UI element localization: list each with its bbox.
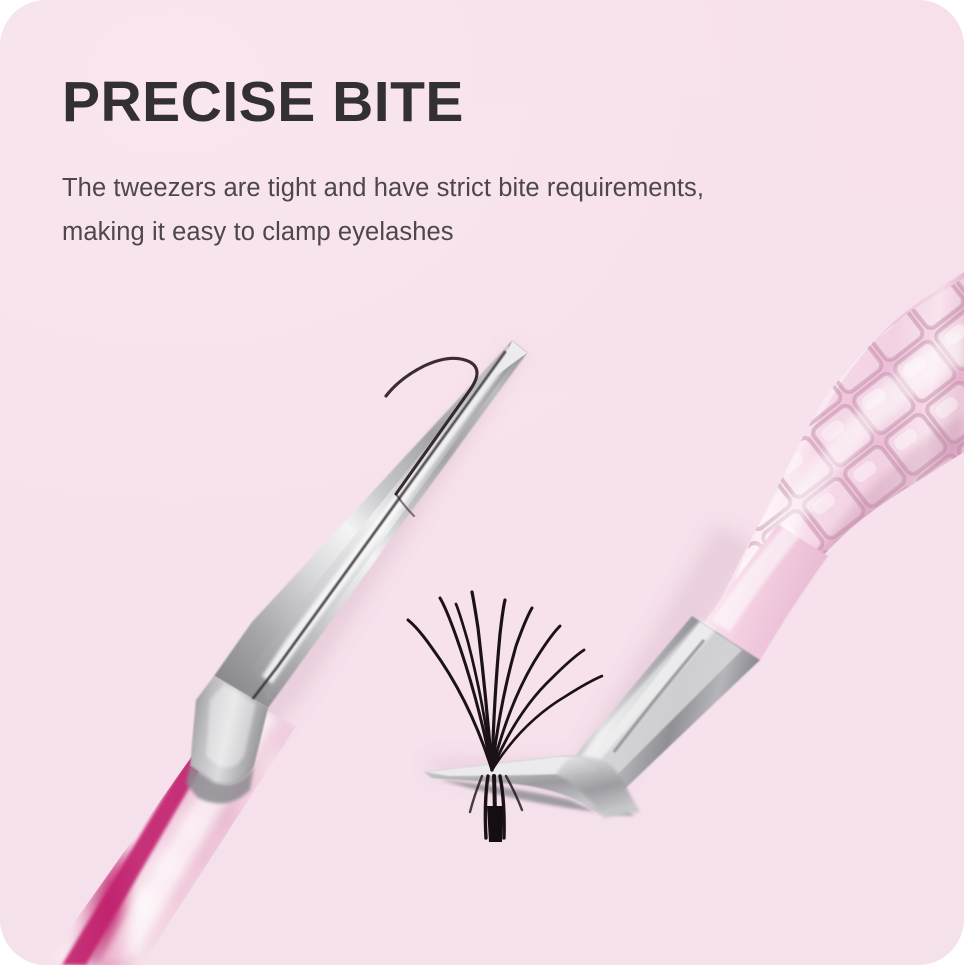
feature-card: PRECISE BITE The tweezers are tight and … [0,0,964,965]
copy-block: PRECISE BITE The tweezers are tight and … [62,74,842,255]
tweezer-arm-left [40,341,527,965]
lash-fan [408,592,602,838]
page-subtitle: The tweezers are tight and have strict b… [62,131,842,255]
subtitle-line-1: The tweezers are tight and have strict b… [62,167,842,211]
lash-fan-base [487,806,503,842]
page-title: PRECISE BITE [62,74,842,131]
subtitle-line-2: making it easy to clamp eyelashes [62,211,842,255]
